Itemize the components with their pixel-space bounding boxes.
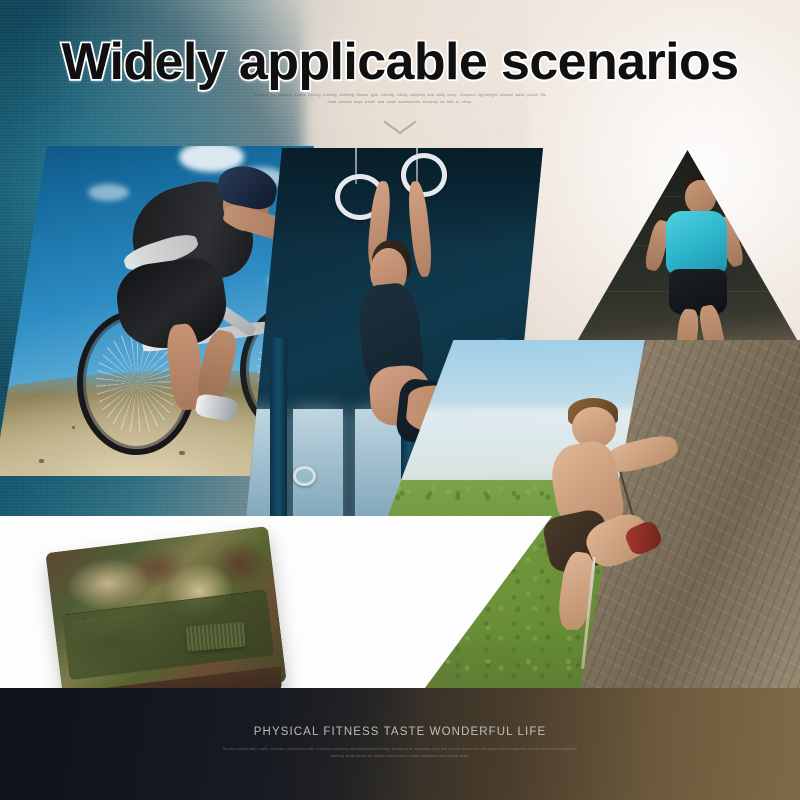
footer-tagline: PHYSICAL FITNESS TASTE WONDERFUL LIFE bbox=[0, 726, 800, 738]
climber-figure bbox=[524, 390, 708, 669]
chevron-down-icon bbox=[0, 120, 800, 141]
page-title: Widely applicable scenarios bbox=[0, 32, 800, 92]
header: Widely applicable scenarios Suitable for… bbox=[0, 0, 800, 150]
camouflage-pouch-product bbox=[45, 526, 286, 709]
footer-footnote: Durable oxford fabric water resistant co… bbox=[220, 746, 580, 761]
header-subtitle: Suitable for outdoor sports cycling runn… bbox=[250, 92, 550, 106]
promo-banner: Widely applicable scenarios Suitable for… bbox=[0, 0, 800, 800]
cyan-tank-top bbox=[666, 211, 727, 274]
footer: PHYSICAL FITNESS TASTE WONDERFUL LIFE Du… bbox=[0, 688, 800, 800]
footer-dark-overlay bbox=[0, 688, 416, 800]
